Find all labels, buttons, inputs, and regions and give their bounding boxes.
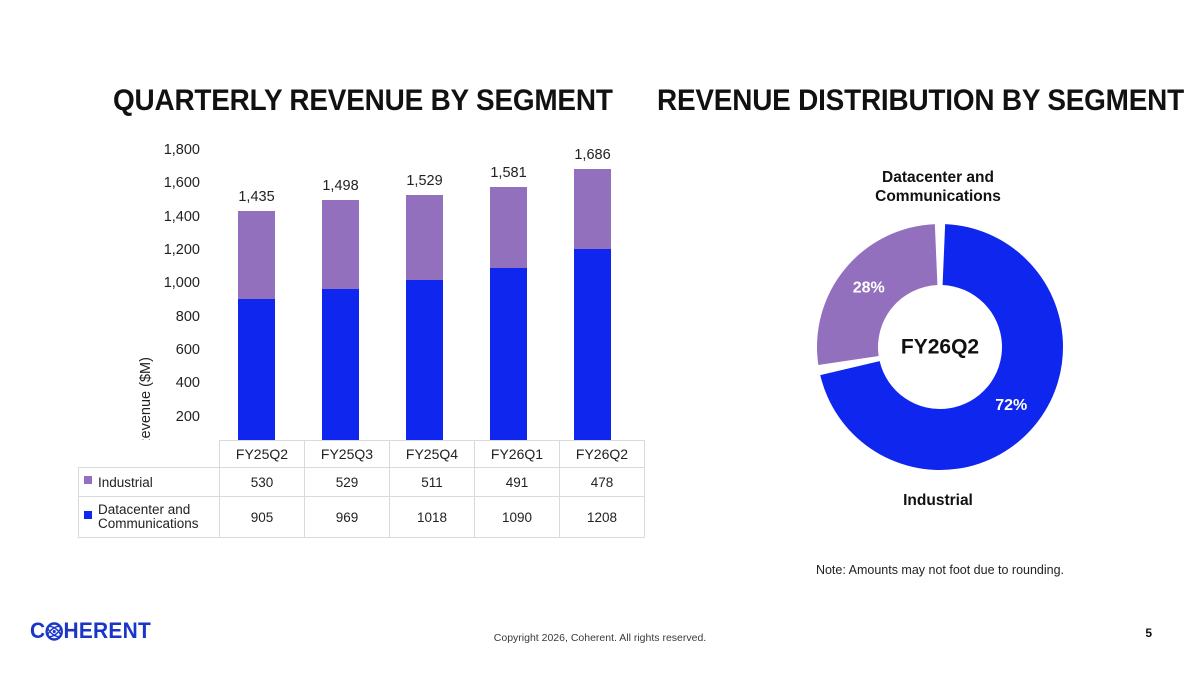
page-number: 5 bbox=[1145, 626, 1152, 640]
table-cell: 530 bbox=[220, 468, 305, 497]
table-column-header: FY26Q2 bbox=[560, 441, 645, 468]
donut-label-datacenter: Datacenter andCommunications bbox=[788, 168, 1088, 206]
bar-segment-industrial[interactable] bbox=[490, 187, 527, 269]
bar-segment-datacenter[interactable] bbox=[322, 289, 359, 451]
table-body: Industrial530529511491478Datacenter andC… bbox=[79, 468, 645, 538]
y-tick-label: 400 bbox=[140, 376, 200, 390]
donut-label-line: Communications bbox=[875, 188, 1001, 205]
donut-percent-industrial: 28% bbox=[853, 279, 885, 296]
bar-segment-datacenter[interactable] bbox=[574, 249, 611, 450]
rounding-note: Note: Amounts may not foot due to roundi… bbox=[700, 563, 1180, 577]
donut-label-industrial: Industrial bbox=[788, 491, 1088, 510]
table-cell: 478 bbox=[560, 468, 645, 497]
table-column-header: FY25Q2 bbox=[220, 441, 305, 468]
y-tick-label: 800 bbox=[140, 310, 200, 324]
donut-svg: FY26Q2 72% 28% bbox=[815, 222, 1065, 472]
table-corner-cell bbox=[79, 441, 220, 468]
bar-segment-datacenter[interactable] bbox=[406, 280, 443, 450]
legend-label-line2: Communications bbox=[98, 516, 199, 531]
donut-label-line: Datacenter and bbox=[882, 169, 994, 186]
bar-total-label: 1,435 bbox=[238, 189, 274, 205]
y-tick-label: 1,000 bbox=[140, 276, 200, 290]
bar-plot-area: 1,4351,4981,5291,5811,686 bbox=[213, 150, 638, 450]
bar-total-label: 1,686 bbox=[574, 147, 610, 163]
table-cell: 529 bbox=[305, 468, 390, 497]
table-column-header: FY25Q4 bbox=[390, 441, 475, 468]
bar-column-fy26q1[interactable] bbox=[490, 187, 527, 451]
data-table: FY25Q2FY25Q3FY25Q4FY26Q1FY26Q2 Industria… bbox=[78, 440, 645, 538]
bar-total-label: 1,529 bbox=[406, 173, 442, 189]
legend-label: Industrial bbox=[98, 476, 153, 490]
bar-column-fy25q2[interactable] bbox=[238, 211, 275, 450]
table-cell: 511 bbox=[390, 468, 475, 497]
bar-segment-industrial[interactable] bbox=[406, 195, 443, 280]
page-title-right: REVENUE DISTRIBUTION BY SEGMENT bbox=[657, 84, 1184, 118]
legend-swatch-icon bbox=[84, 476, 92, 484]
bar-segment-industrial[interactable] bbox=[238, 211, 275, 299]
table-row: Industrial530529511491478 bbox=[79, 468, 645, 497]
table-cell: 1208 bbox=[560, 497, 645, 538]
bar-total-label: 1,581 bbox=[490, 165, 526, 181]
y-tick-label: 600 bbox=[140, 343, 200, 357]
y-tick-label: 1,200 bbox=[140, 243, 200, 257]
y-tick-label: 1,600 bbox=[140, 176, 200, 190]
y-tick-label: 1,800 bbox=[140, 143, 200, 157]
table-row-legend: Industrial bbox=[79, 468, 220, 497]
donut-chart: Datacenter andCommunications Industrial … bbox=[700, 150, 1180, 570]
bar-segment-datacenter[interactable] bbox=[490, 268, 527, 450]
copyright-text: Copyright 2026, Coherent. All rights res… bbox=[0, 632, 1200, 644]
bar-column-fy25q3[interactable] bbox=[322, 200, 359, 450]
table-cell: 491 bbox=[475, 468, 560, 497]
y-tick-label: 1,400 bbox=[140, 210, 200, 224]
table-cell: 969 bbox=[305, 497, 390, 538]
page-title-left: QUARTERLY REVENUE BY SEGMENT bbox=[113, 84, 613, 118]
bar-total-label: 1,498 bbox=[322, 178, 358, 194]
y-tick-label: 200 bbox=[140, 410, 200, 424]
table-column-header: FY25Q3 bbox=[305, 441, 390, 468]
table-row-legend: Datacenter andCommunications bbox=[79, 497, 220, 538]
donut-center-label: FY26Q2 bbox=[901, 336, 979, 359]
bar-segment-industrial[interactable] bbox=[322, 200, 359, 288]
slide: QUARTERLY REVENUE BY SEGMENT REVENUE DIS… bbox=[0, 0, 1200, 675]
bar-segment-industrial[interactable] bbox=[574, 169, 611, 249]
bar-column-fy26q2[interactable] bbox=[574, 169, 611, 450]
table-cell: 1090 bbox=[475, 497, 560, 538]
bar-column-fy25q4[interactable] bbox=[406, 195, 443, 450]
donut-percent-datacenter: 72% bbox=[995, 397, 1027, 414]
table-row: Datacenter andCommunications905969101810… bbox=[79, 497, 645, 538]
bar-segment-datacenter[interactable] bbox=[238, 299, 275, 450]
table-cell: 905 bbox=[220, 497, 305, 538]
legend-label: Datacenter andCommunications bbox=[98, 503, 199, 531]
table-column-header: FY26Q1 bbox=[475, 441, 560, 468]
table-cell: 1018 bbox=[390, 497, 475, 538]
legend-swatch-icon bbox=[84, 511, 92, 519]
table-header-row: FY25Q2FY25Q3FY25Q4FY26Q1FY26Q2 bbox=[79, 441, 645, 468]
